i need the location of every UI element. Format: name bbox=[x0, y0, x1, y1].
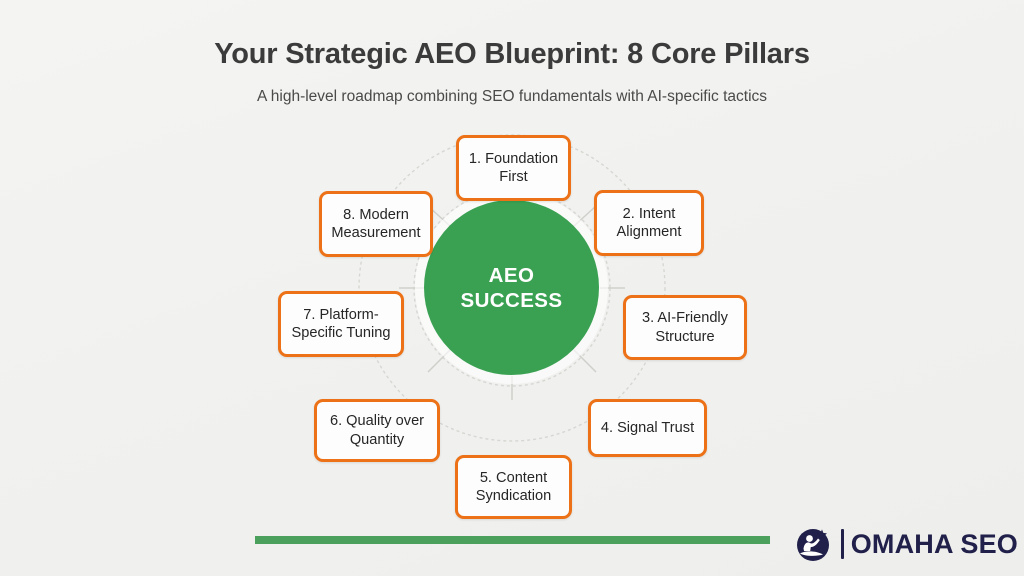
pillar-6-line-1: 6. Quality over bbox=[330, 413, 424, 429]
pillar-box-4[interactable]: 4. Signal Trust bbox=[588, 399, 707, 457]
pillar-7-line-1: 7. Platform- bbox=[303, 307, 378, 323]
pillar-4-text: 4. Signal Trust bbox=[601, 419, 694, 437]
pillar-8-text: 8. Modern Measurement bbox=[331, 206, 420, 243]
radial-diagram: AEO SUCCESS 1. Foundation First 2. Inten… bbox=[0, 118, 1024, 518]
pillar-7-line-2: Specific Tuning bbox=[292, 325, 391, 341]
pillar-7-text: 7. Platform- Specific Tuning bbox=[292, 306, 391, 343]
page-title: Your Strategic AEO Blueprint: 8 Core Pil… bbox=[0, 38, 1024, 71]
pillar-box-5[interactable]: 5. Content Syndication bbox=[455, 455, 572, 519]
pillar-2-text: 2. Intent Alignment bbox=[617, 205, 682, 242]
pillar-2-line-1: 2. Intent bbox=[623, 206, 676, 222]
pillar-3-line-1: 3. AI-Friendly bbox=[642, 310, 728, 326]
footer-divider-rule bbox=[255, 536, 770, 544]
pillar-4-line-1: 4. Signal Trust bbox=[601, 420, 694, 436]
pillar-box-8[interactable]: 8. Modern Measurement bbox=[319, 191, 433, 257]
person-reaching-star-icon bbox=[794, 524, 834, 564]
brand-logo: OMAHA SEO bbox=[794, 524, 1018, 564]
pillar-box-2[interactable]: 2. Intent Alignment bbox=[594, 190, 704, 256]
hub-label-line-1: AEO bbox=[489, 264, 535, 287]
pillar-1-line-2: First bbox=[499, 169, 527, 185]
pillar-box-3[interactable]: 3. AI-Friendly Structure bbox=[623, 295, 747, 360]
page-subtitle: A high-level roadmap combining SEO funda… bbox=[0, 88, 1024, 106]
brand-name: OMAHA SEO bbox=[851, 529, 1018, 560]
hub-aeo-success[interactable]: AEO SUCCESS bbox=[424, 200, 599, 375]
pillar-6-text: 6. Quality over Quantity bbox=[330, 412, 424, 449]
hub-label-line-2: SUCCESS bbox=[461, 289, 563, 312]
pillar-box-1[interactable]: 1. Foundation First bbox=[456, 135, 571, 201]
pillar-3-text: 3. AI-Friendly Structure bbox=[642, 309, 728, 346]
pillar-box-6[interactable]: 6. Quality over Quantity bbox=[314, 399, 440, 462]
pillar-8-line-2: Measurement bbox=[331, 225, 420, 241]
pillar-5-line-1: 5. Content bbox=[480, 470, 547, 486]
pillar-box-7[interactable]: 7. Platform- Specific Tuning bbox=[278, 291, 404, 357]
pillar-6-line-2: Quantity bbox=[350, 432, 404, 448]
pillar-2-line-2: Alignment bbox=[617, 224, 682, 240]
spoke-2 bbox=[574, 206, 596, 226]
pillar-1-line-1: 1. Foundation bbox=[469, 151, 558, 167]
brand-divider bbox=[841, 529, 844, 559]
pillar-1-text: 1. Foundation First bbox=[469, 150, 558, 187]
hub-label: AEO SUCCESS bbox=[461, 263, 563, 313]
pillar-5-text: 5. Content Syndication bbox=[476, 469, 551, 506]
slide-canvas: Your Strategic AEO Blueprint: 8 Core Pil… bbox=[0, 0, 1024, 576]
pillar-5-line-2: Syndication bbox=[476, 488, 551, 504]
pillar-8-line-1: 8. Modern bbox=[343, 207, 409, 223]
pillar-3-line-2: Structure bbox=[655, 329, 714, 345]
spoke-4 bbox=[574, 350, 596, 372]
